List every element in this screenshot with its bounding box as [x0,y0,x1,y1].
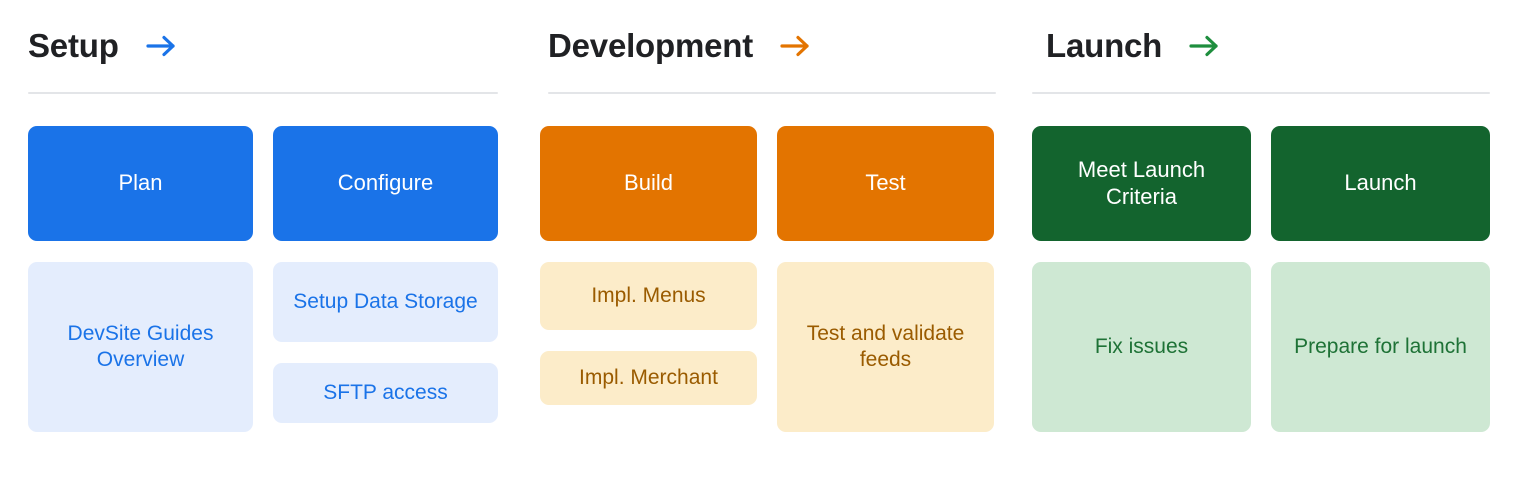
card-plan[interactable]: Plan [28,126,253,241]
phase-title-development: Development [548,27,753,65]
arrow-right-icon [779,32,813,60]
phase-header-launch: Launch [1018,0,1518,92]
card-configure[interactable]: Configure [273,126,498,241]
card-devsite-guides-overview[interactable]: DevSite Guides Overview [28,262,253,432]
column-launch: Launch Prepare for launch [1271,126,1490,432]
arrow-right-icon [1188,32,1222,60]
column-plan: Plan DevSite Guides Overview [28,126,253,432]
roadmap-board: Setup Plan DevSite Guides Overview Confi… [0,0,1518,484]
phase-development: Development Build Impl. Menus Impl. Merc… [520,0,1018,484]
card-setup-data-storage[interactable]: Setup Data Storage [273,262,498,342]
phase-columns-development: Build Impl. Menus Impl. Merchant Test Te… [520,94,1018,452]
column-configure: Configure Setup Data Storage SFTP access [273,126,498,432]
card-impl-merchant[interactable]: Impl. Merchant [540,351,757,405]
phase-columns-setup: Plan DevSite Guides Overview Configure S… [0,94,520,452]
column-build: Build Impl. Menus Impl. Merchant [540,126,757,432]
phase-launch: Launch Meet Launch Criteria Fix issues L… [1018,0,1518,484]
card-test-and-validate-feeds[interactable]: Test and validate feeds [777,262,994,432]
phase-setup: Setup Plan DevSite Guides Overview Confi… [0,0,520,484]
card-impl-menus[interactable]: Impl. Menus [540,262,757,330]
phase-header-development: Development [520,0,1018,92]
card-prepare-for-launch[interactable]: Prepare for launch [1271,262,1490,432]
card-meet-launch-criteria[interactable]: Meet Launch Criteria [1032,126,1251,241]
card-build[interactable]: Build [540,126,757,241]
column-meet-launch-criteria: Meet Launch Criteria Fix issues [1032,126,1251,432]
phase-title-launch: Launch [1046,27,1162,65]
card-test[interactable]: Test [777,126,994,241]
phase-columns-launch: Meet Launch Criteria Fix issues Launch P… [1018,94,1518,452]
card-sftp-access[interactable]: SFTP access [273,363,498,423]
card-launch[interactable]: Launch [1271,126,1490,241]
column-test: Test Test and validate feeds [777,126,994,432]
arrow-right-icon [145,32,179,60]
card-fix-issues[interactable]: Fix issues [1032,262,1251,432]
phase-header-setup: Setup [0,0,520,92]
phase-title-setup: Setup [28,27,119,65]
